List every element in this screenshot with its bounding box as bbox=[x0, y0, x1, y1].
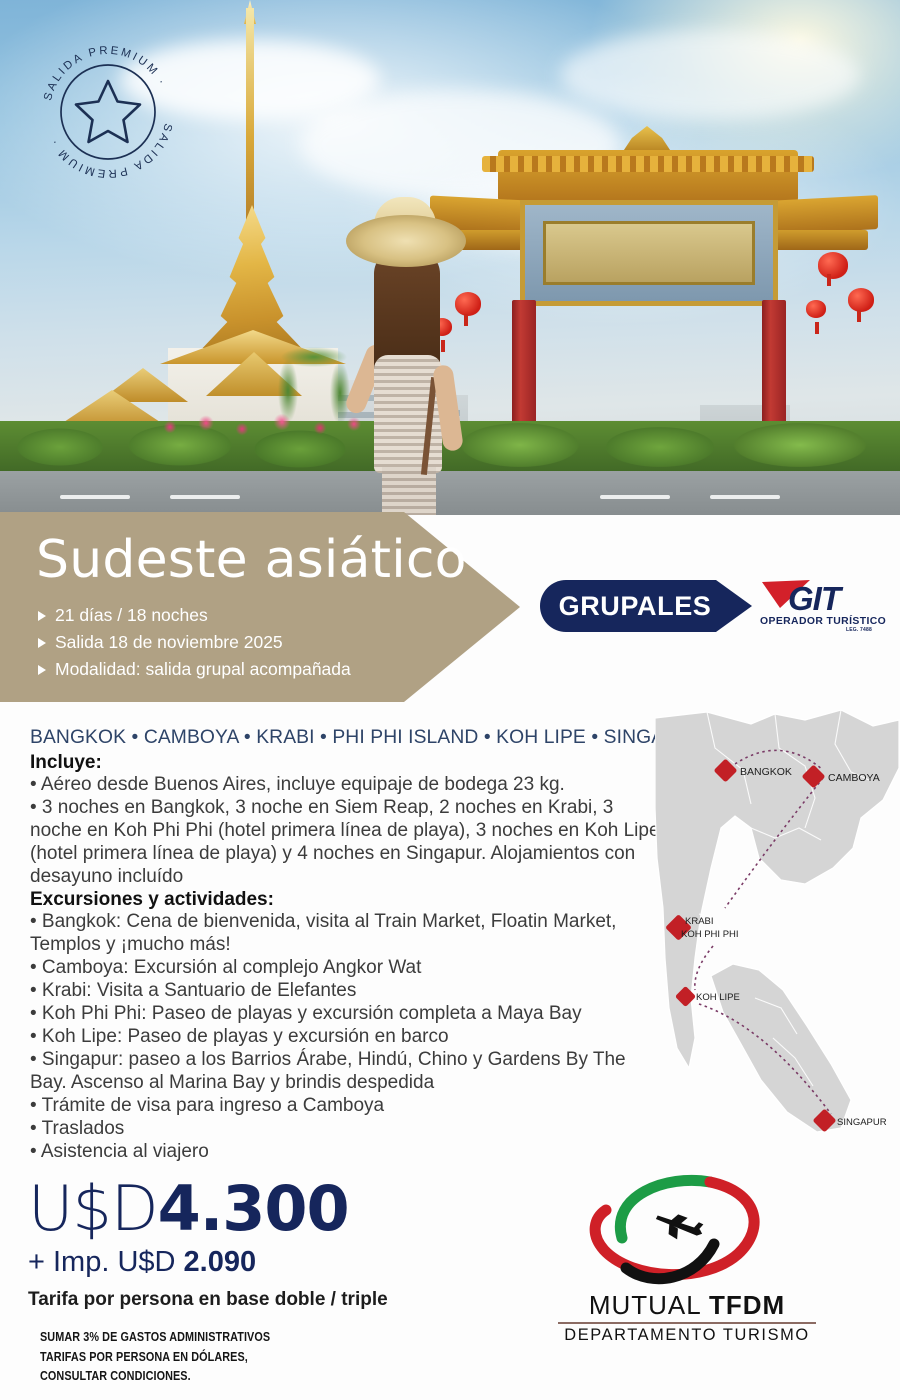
highlight-item: 21 días / 18 noches bbox=[38, 605, 458, 626]
red-lantern bbox=[848, 288, 874, 312]
arrow-right-icon bbox=[38, 611, 46, 621]
highlight-label: Modalidad: salida grupal acompañada bbox=[55, 659, 351, 680]
map-label-koh-phi-phi: KOH PHI PHI bbox=[681, 929, 739, 940]
route-map: BANGKOK CAMBOYA KRABI KOH PHI PHI KOH LI… bbox=[655, 708, 900, 1148]
tax-currency: U$D bbox=[117, 1246, 175, 1278]
airplane-icon bbox=[652, 1205, 706, 1249]
tfdm-line2: DEPARTAMENTO TURISMO bbox=[552, 1326, 822, 1345]
tfdm-line1: MUTUAL TFDM bbox=[552, 1290, 822, 1321]
gate-side-roof bbox=[772, 230, 868, 250]
include-item: • 3 noches en Bangkok, 3 noche en Siem R… bbox=[30, 797, 660, 889]
highlight-label: 21 días / 18 noches bbox=[55, 605, 208, 626]
tax-prefix: + Imp. bbox=[28, 1246, 109, 1278]
tax-amount: 2.090 bbox=[184, 1246, 257, 1278]
highlight-item: Salida 18 de noviembre 2025 bbox=[38, 632, 458, 653]
road-marking bbox=[170, 495, 240, 499]
price-currency: U$D bbox=[28, 1172, 158, 1245]
map-label-krabi: KRABI bbox=[685, 916, 714, 927]
excursion-item: • Bangkok: Cena de bienvenida, visita al… bbox=[30, 911, 660, 957]
excursion-item: • Camboya: Excursión al complejo Angkor … bbox=[30, 957, 660, 980]
gate-panel-inner bbox=[543, 221, 755, 285]
svg-text:SALIDA PREMIUM ·: SALIDA PREMIUM · bbox=[42, 45, 168, 102]
git-tagline: OPERADOR TURÍSTICO bbox=[760, 616, 886, 627]
fineprint: SUMAR 3% DE GASTOS ADMINISTRATIVOS TARIF… bbox=[40, 1328, 270, 1387]
straw-hat bbox=[346, 215, 466, 267]
excursion-item: • Trámite de visa para ingreso a Camboya bbox=[30, 1095, 660, 1118]
map-label-koh-lipe: KOH LIPE bbox=[696, 992, 740, 1003]
itinerary-content: Incluye: • Aéreo desde Buenos Aires, inc… bbox=[30, 752, 660, 1164]
road-marking bbox=[60, 495, 130, 499]
gate-side-roof bbox=[768, 195, 878, 235]
grupales-label: GRUPALES bbox=[559, 591, 734, 622]
excursion-item: • Koh Phi Phi: Paseo de playas y excursi… bbox=[30, 1003, 660, 1026]
excursion-item: • Koh Lipe: Paseo de playas y excursión … bbox=[30, 1026, 660, 1049]
excursion-item: • Traslados bbox=[30, 1118, 660, 1141]
tourist-woman bbox=[330, 215, 480, 515]
grupales-badge: GRUPALES bbox=[540, 580, 752, 632]
excursion-item: • Asistencia al viajero bbox=[30, 1141, 660, 1164]
gate-roof bbox=[498, 150, 798, 202]
svg-text:SALIDA PREMIUM ·: SALIDA PREMIUM · bbox=[48, 122, 174, 179]
brochure-page: SALIDA PREMIUM · SALIDA PREMIUM · Sudest… bbox=[0, 0, 900, 1400]
road-marking bbox=[600, 495, 670, 499]
arrow-right-icon bbox=[38, 638, 46, 648]
red-lantern bbox=[806, 300, 826, 318]
excursion-item: • Singapur: paseo a los Barrios Árabe, H… bbox=[30, 1049, 660, 1095]
price-block: U$D4.300 + Imp. U$D 2.090 Tarifa por per… bbox=[28, 1178, 388, 1311]
gate-panel bbox=[520, 200, 778, 306]
highlight-label: Salida 18 de noviembre 2025 bbox=[55, 632, 283, 653]
git-logo: GIT OPERADOR TURÍSTICO LEG. 7488 bbox=[760, 576, 892, 636]
tfdm-mutual: MUTUAL bbox=[589, 1290, 701, 1320]
red-lantern bbox=[818, 252, 848, 279]
mutual-tfdm-logo: MUTUAL TFDM DEPARTAMENTO TURISMO bbox=[508, 1172, 868, 1347]
salida-premium-stamp: SALIDA PREMIUM · SALIDA PREMIUM · bbox=[28, 32, 188, 192]
star-icon bbox=[76, 81, 140, 142]
map-label-bangkok: BANGKOK bbox=[740, 766, 792, 778]
price-main: U$D4.300 bbox=[28, 1178, 388, 1240]
map-label-singapur: SINGAPUR bbox=[837, 1117, 887, 1128]
git-legend: LEG. 7488 bbox=[846, 627, 872, 633]
trip-highlights: 21 días / 18 noches Salida 18 de noviemb… bbox=[38, 605, 458, 686]
tfdm-acronym: TFDM bbox=[709, 1290, 785, 1320]
arrow-right-icon bbox=[38, 665, 46, 675]
price-amount: 4.300 bbox=[158, 1172, 349, 1245]
git-wordmark: GIT bbox=[788, 580, 840, 618]
fineprint-line: TARIFAS POR PERSONA EN DÓLARES, bbox=[40, 1348, 270, 1368]
fineprint-line: CONSULTAR CONDICIONES. bbox=[40, 1367, 270, 1387]
hero-photo: SALIDA PREMIUM · SALIDA PREMIUM · bbox=[0, 0, 900, 515]
divider bbox=[558, 1322, 816, 1324]
tfdm-wordmark: MUTUAL TFDM DEPARTAMENTO TURISMO bbox=[552, 1290, 822, 1345]
map-label-camboya: CAMBOYA bbox=[828, 772, 880, 784]
temple-spire bbox=[246, 8, 254, 223]
include-item: • Aéreo desde Buenos Aires, incluye equi… bbox=[30, 774, 660, 797]
price-note: Tarifa por persona en base doble / tripl… bbox=[28, 1289, 388, 1311]
fineprint-line: SUMAR 3% DE GASTOS ADMINISTRATIVOS bbox=[40, 1328, 270, 1348]
page-title: Sudeste asiático bbox=[36, 530, 467, 590]
section-heading: Incluye: bbox=[30, 752, 660, 774]
cloud bbox=[560, 30, 860, 120]
section-heading: Excursiones y actividades: bbox=[30, 889, 660, 911]
highlight-item: Modalidad: salida grupal acompañada bbox=[38, 659, 458, 680]
destinations-line: BANGKOK • CAMBOYA • KRABI • PHI PHI ISLA… bbox=[30, 727, 705, 749]
road-marking bbox=[710, 495, 780, 499]
price-tax: + Imp. U$D 2.090 bbox=[28, 1246, 388, 1279]
excursion-item: • Krabi: Visita a Santuario de Elefantes bbox=[30, 980, 660, 1003]
legs bbox=[382, 467, 436, 515]
